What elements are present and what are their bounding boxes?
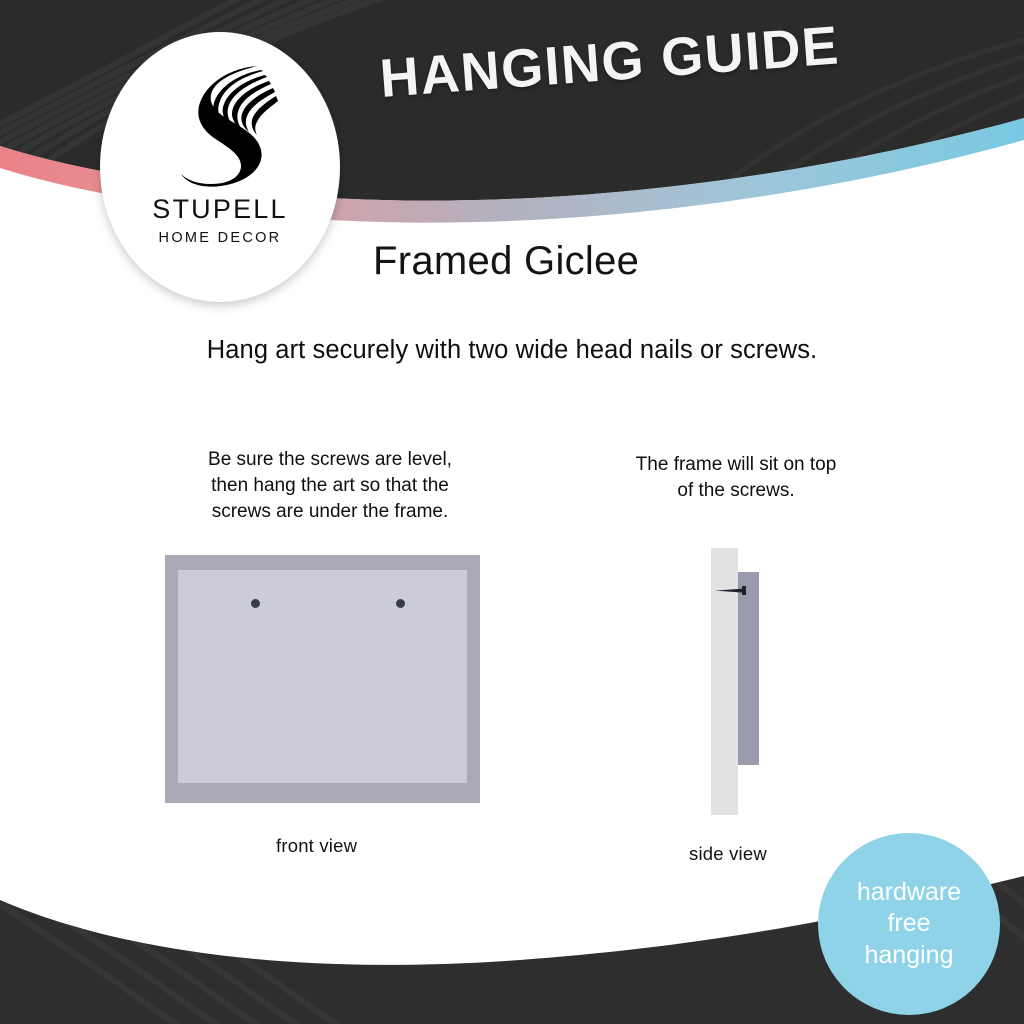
side-view-frame <box>738 572 759 765</box>
brand-subtitle: HOME DECOR <box>159 231 282 246</box>
brand-name: STUPELL <box>152 196 287 223</box>
nail-icon <box>715 586 751 595</box>
brand-logo-badge[interactable]: STUPELL HOME DECOR <box>100 32 340 302</box>
side-view-caption: The frame will sit on top of the screws. <box>605 452 867 504</box>
badge-line-2: free <box>887 908 930 940</box>
front-view-caption: Be sure the screws are level, then hang … <box>180 447 480 526</box>
badge-line-3: hanging <box>865 940 954 972</box>
screw-dot-right <box>396 599 405 608</box>
badge-line-1: hardware <box>857 877 961 909</box>
screw-dot-left <box>251 599 260 608</box>
product-type-label: Framed Giclee <box>373 239 639 284</box>
hanging-guide-page: HANGING GUIDE STUPELL HOME DECOR Framed … <box>0 0 1024 1024</box>
hardware-free-hanging-badge[interactable]: hardware free hanging <box>818 833 1000 1015</box>
lead-instruction-text: Hang art securely with two wide head nai… <box>0 336 1024 365</box>
front-view-frame <box>165 555 480 803</box>
stupell-swoosh-icon <box>161 60 279 188</box>
front-view-mat <box>178 570 467 783</box>
